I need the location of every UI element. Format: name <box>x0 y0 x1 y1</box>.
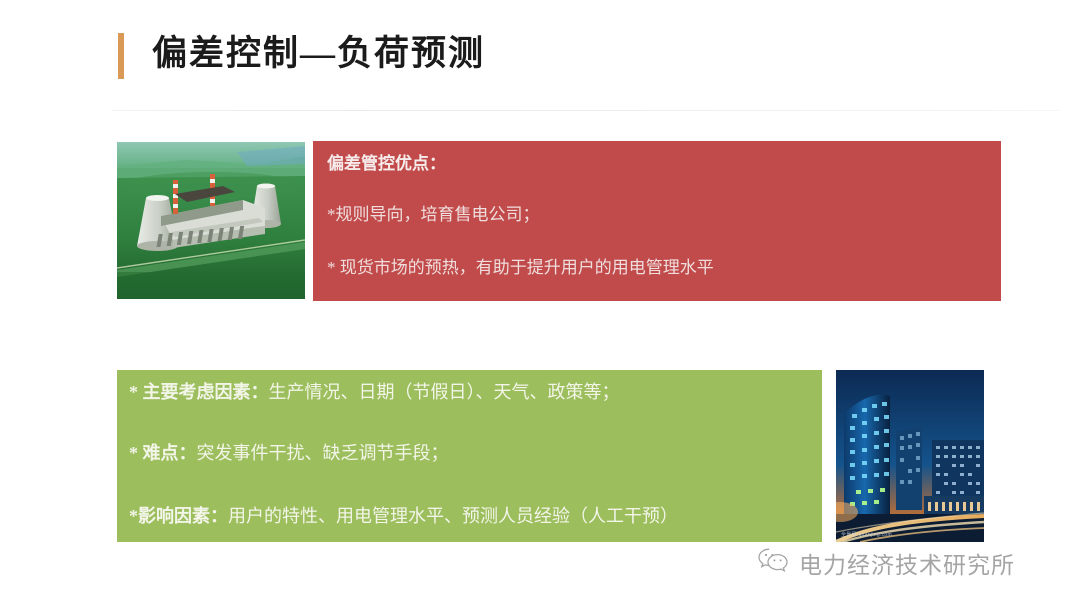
page-title: 偏差控制—负荷预测 <box>152 29 485 79</box>
power-plant-image <box>117 142 305 299</box>
factors-row-influence-body: 用户的特性、用电管理水平、预测人员经验（人工干预） <box>228 506 678 526</box>
factors-row-main-label: 主要考虑因素： <box>143 382 269 402</box>
factors-row-influence-label: 影响因素： <box>138 506 228 526</box>
watermark: 电力经济技术研究所 <box>757 546 1015 580</box>
factors-row-main-bullet: * <box>129 382 138 402</box>
advantages-item-1: *规则导向，培育售电公司； <box>327 204 1001 225</box>
factors-row-influence: *影响因素：用户的特性、用电管理水平、预测人员经验（人工干预） <box>129 505 822 527</box>
slide-canvas: 偏差控制—负荷预测 <box>0 0 1080 607</box>
advantages-panel: 偏差管控优点： *规则导向，培育售电公司； * 现货市场的预热，有助于提升用户的… <box>313 141 1001 301</box>
title-divider <box>112 110 1060 111</box>
forecast-factors-panel: * 主要考虑因素：生产情况、日期（节假日）、天气、政策等； * 难点：突发事件干… <box>117 370 822 542</box>
power-plant-illustration <box>117 142 305 299</box>
title-accent-bar <box>118 33 124 79</box>
factors-row-difficulty-bullet: * <box>129 443 138 463</box>
factors-row-difficulty-label: 难点： <box>143 443 197 463</box>
city-night-image: 全景网 quanjing.com <box>836 370 984 542</box>
factors-row-difficulty-body: 突发事件干扰、缺乏调节手段； <box>197 443 449 463</box>
factors-row-main: * 主要考虑因素：生产情况、日期（节假日）、天气、政策等； <box>129 381 822 403</box>
factors-row-main-body: 生产情况、日期（节假日）、天气、政策等； <box>269 382 620 402</box>
advantages-heading: 偏差管控优点： <box>327 153 1001 174</box>
wechat-icon <box>757 547 790 579</box>
factors-row-influence-bullet: * <box>129 506 138 526</box>
factors-row-difficulty: * 难点：突发事件干扰、缺乏调节手段； <box>129 442 822 464</box>
image-credit: 全景网 quanjing.com <box>841 531 892 538</box>
city-night-illustration <box>836 370 984 542</box>
watermark-text: 电力经济技术研究所 <box>799 546 1015 580</box>
advantages-item-2: * 现货市场的预热，有助于提升用户的用电管理水平 <box>327 257 1001 278</box>
wechat-icon-glyph <box>757 547 790 574</box>
